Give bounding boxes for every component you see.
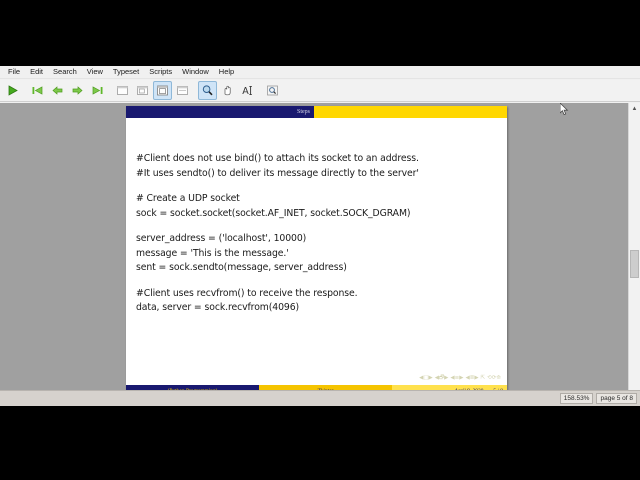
select-text-button[interactable]: A	[238, 81, 257, 100]
screen-root: File Edit Search View Typeset Scripts Wi…	[0, 0, 640, 480]
code-line: sock = socket.socket(socket.AF_INET, soc…	[136, 207, 497, 222]
send-message-block: server_address = ('localhost', 10000) me…	[136, 232, 497, 276]
pan-tool-button[interactable]	[218, 81, 237, 100]
page-indicator-field[interactable]: page 5 of 8	[596, 393, 637, 404]
typeset-play-button[interactable]	[3, 81, 22, 100]
menu-bar: File Edit Search View Typeset Scripts Wi…	[0, 66, 640, 79]
nav-symbol-section-icon[interactable]: ◀≣▶	[465, 375, 478, 382]
svg-text:A: A	[242, 86, 249, 97]
code-line: #Client does not use bind() to attach it…	[136, 152, 497, 167]
play-icon	[6, 84, 19, 97]
toolbar: A	[0, 80, 640, 102]
pdf-viewer-window: File Edit Search View Typeset Scripts Wi…	[0, 66, 640, 406]
nav-symbol-frame-icon[interactable]: ◀🗗▶	[435, 375, 449, 382]
code-line: message = 'This is the message.'	[136, 247, 497, 262]
fit-width-icon	[116, 84, 129, 97]
nav-symbol-subsection-icon[interactable]: ◀≡▶	[450, 375, 463, 382]
actual-size-button[interactable]	[153, 81, 172, 100]
slide-header-bar: Steps	[126, 106, 507, 118]
find-icon	[266, 84, 279, 97]
code-line: #It uses sendto() to deliver its message…	[136, 167, 497, 182]
menu-edit[interactable]: Edit	[25, 66, 48, 78]
vertical-scrollbar-thumb[interactable]	[630, 250, 639, 278]
text-select-icon: A	[241, 84, 254, 97]
code-line: sent = sock.sendto(message, server_addre…	[136, 261, 497, 276]
fit-page-button[interactable]	[173, 81, 192, 100]
status-bar: 158.53% page 5 of 8	[0, 390, 640, 406]
actual-size-icon	[156, 84, 169, 97]
comment-block-bind: #Client does not use bind() to attach it…	[136, 152, 497, 181]
magnify-tool-button[interactable]	[198, 81, 217, 100]
code-line: data, server = sock.recvfrom(4096)	[136, 301, 497, 316]
nav-symbol-slide-icon[interactable]: ◀□▶	[419, 375, 433, 382]
slide-header-section: Steps	[126, 106, 314, 118]
receive-response-block: #Client uses recvfrom() to receive the r…	[136, 287, 497, 316]
first-page-icon	[31, 84, 44, 97]
first-page-button[interactable]	[28, 81, 47, 100]
previous-page-icon	[51, 84, 64, 97]
last-page-button[interactable]	[88, 81, 107, 100]
menu-typeset[interactable]: Typeset	[108, 66, 144, 78]
last-page-icon	[91, 84, 104, 97]
beamer-navigation-symbols[interactable]: ◀□▶ ◀🗗▶ ◀≡▶ ◀≣▶ ⇱ ⟲⟳⟰	[419, 375, 501, 382]
vertical-scrollbar[interactable]: ▲ ▼	[628, 103, 640, 406]
nav-symbol-home-icon[interactable]: ⇱	[481, 375, 486, 382]
menu-search[interactable]: Search	[48, 66, 82, 78]
slide-section-title: Steps	[297, 109, 310, 115]
letterbox-bottom-bar	[0, 406, 640, 480]
code-line: #Client uses recvfrom() to receive the r…	[136, 287, 497, 302]
nav-symbol-back-forward-icon[interactable]: ⟲⟳⟰	[487, 375, 501, 382]
previous-page-button[interactable]	[48, 81, 67, 100]
menu-help[interactable]: Help	[214, 66, 239, 78]
slide-content: #Client does not use bind() to attach it…	[126, 118, 507, 384]
hand-icon	[221, 84, 234, 97]
next-page-button[interactable]	[68, 81, 87, 100]
fit-window-icon	[136, 84, 149, 97]
scroll-up-arrow-icon[interactable]: ▲	[629, 103, 640, 114]
fit-page-icon	[176, 84, 189, 97]
code-line: # Create a UDP socket	[136, 192, 497, 207]
menu-window[interactable]: Window	[177, 66, 214, 78]
create-socket-block: # Create a UDP socket sock = socket.sock…	[136, 192, 497, 221]
next-page-icon	[71, 84, 84, 97]
code-line: server_address = ('localhost', 10000)	[136, 232, 497, 247]
document-viewport[interactable]: Steps #Client does not use bind() to att…	[0, 103, 640, 406]
slide-header-accent	[314, 106, 507, 118]
menu-view[interactable]: View	[82, 66, 108, 78]
fit-width-button[interactable]	[113, 81, 132, 100]
letterbox-top-bar	[0, 0, 640, 66]
zoom-level-field[interactable]: 158.53%	[560, 393, 594, 404]
find-button[interactable]	[263, 81, 282, 100]
slide-page[interactable]: Steps #Client does not use bind() to att…	[126, 106, 507, 396]
menu-scripts[interactable]: Scripts	[144, 66, 177, 78]
menu-file[interactable]: File	[3, 66, 25, 78]
fit-window-button[interactable]	[133, 81, 152, 100]
magnifier-icon	[201, 84, 214, 97]
